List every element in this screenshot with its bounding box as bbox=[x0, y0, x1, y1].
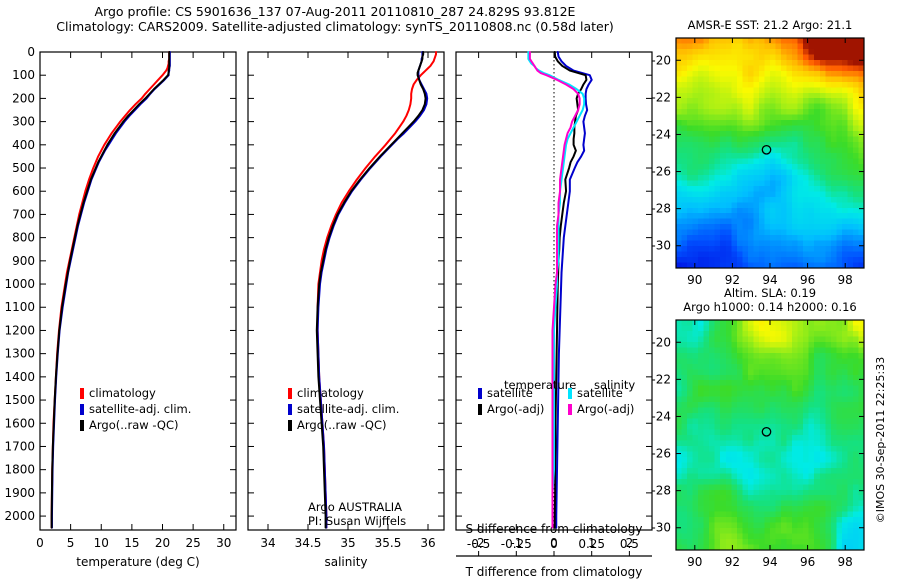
field-cell bbox=[693, 252, 699, 258]
field-cell bbox=[693, 54, 699, 60]
field-cell bbox=[770, 93, 776, 99]
field-cell bbox=[820, 402, 826, 408]
field-cell bbox=[831, 186, 837, 192]
field-cell bbox=[759, 336, 765, 342]
field-cell bbox=[853, 98, 859, 104]
field-cell bbox=[737, 495, 743, 501]
field-cell bbox=[764, 241, 770, 247]
field-cell bbox=[764, 126, 770, 132]
field-cell bbox=[770, 451, 776, 457]
field-cell bbox=[814, 104, 820, 110]
field-cell bbox=[764, 98, 770, 104]
field-cell bbox=[753, 43, 759, 49]
field-cell bbox=[726, 82, 732, 88]
field-cell bbox=[687, 54, 693, 60]
field-cell bbox=[698, 219, 704, 225]
field-cell bbox=[748, 126, 754, 132]
field-cell bbox=[842, 197, 848, 203]
field-cell bbox=[759, 506, 765, 512]
field-cell bbox=[831, 506, 837, 512]
field-cell bbox=[731, 457, 737, 463]
field-cell bbox=[853, 446, 859, 452]
field-cell bbox=[809, 353, 815, 359]
field-cell bbox=[742, 534, 748, 540]
field-cell bbox=[847, 137, 853, 143]
field-cell bbox=[704, 169, 710, 175]
field-cell bbox=[759, 523, 765, 529]
field-cell bbox=[792, 246, 798, 252]
field-cell bbox=[842, 424, 848, 430]
field-cell bbox=[792, 180, 798, 186]
field-cell bbox=[693, 186, 699, 192]
field-cell bbox=[798, 375, 804, 381]
field-cell bbox=[748, 241, 754, 247]
field-cell bbox=[847, 235, 853, 241]
field-cell bbox=[737, 517, 743, 523]
field-cell bbox=[720, 65, 726, 71]
field-cell bbox=[704, 230, 710, 236]
field-cell bbox=[731, 213, 737, 219]
field-cell bbox=[814, 424, 820, 430]
field-cell bbox=[825, 109, 831, 115]
field-cell bbox=[842, 413, 848, 419]
field-cell bbox=[764, 539, 770, 545]
field-cell bbox=[787, 109, 793, 115]
field-cell bbox=[770, 336, 776, 342]
field-cell bbox=[682, 353, 688, 359]
field-cell bbox=[770, 208, 776, 214]
field-cell bbox=[693, 435, 699, 441]
field-cell bbox=[726, 528, 732, 534]
field-cell bbox=[792, 353, 798, 359]
field-cell bbox=[781, 104, 787, 110]
field-cell bbox=[698, 43, 704, 49]
field-cell bbox=[836, 76, 842, 82]
field-cell bbox=[731, 501, 737, 507]
field-cell bbox=[798, 137, 804, 143]
field-cell bbox=[759, 495, 765, 501]
field-cell bbox=[803, 153, 809, 159]
field-cell bbox=[787, 43, 793, 49]
field-cell bbox=[687, 158, 693, 164]
field-cell bbox=[731, 468, 737, 474]
field-cell bbox=[798, 506, 804, 512]
field-cell bbox=[748, 158, 754, 164]
field-cell bbox=[781, 43, 787, 49]
field-cell bbox=[814, 76, 820, 82]
field-cell bbox=[715, 473, 721, 479]
field-cell bbox=[698, 347, 704, 353]
field-cell bbox=[831, 230, 837, 236]
field-cell bbox=[803, 397, 809, 403]
legend-label: Argo(-adj) bbox=[577, 402, 634, 416]
field-cell bbox=[715, 320, 721, 326]
field-cell bbox=[798, 479, 804, 485]
map-y-tick-label: -24 bbox=[651, 127, 671, 141]
field-cell bbox=[792, 71, 798, 77]
field-cell bbox=[693, 386, 699, 392]
field-cell bbox=[803, 419, 809, 425]
field-cell bbox=[820, 93, 826, 99]
field-cell bbox=[737, 440, 743, 446]
field-cell bbox=[715, 342, 721, 348]
field-cell bbox=[731, 479, 737, 485]
field-cell bbox=[726, 517, 732, 523]
field-cell bbox=[715, 364, 721, 370]
field-cell bbox=[792, 191, 798, 197]
field-cell bbox=[836, 446, 842, 452]
field-cell bbox=[803, 49, 809, 55]
field-cell bbox=[764, 197, 770, 203]
field-cell bbox=[709, 419, 715, 425]
field-cell bbox=[831, 523, 837, 529]
field-cell bbox=[809, 137, 815, 143]
field-cell bbox=[748, 137, 754, 143]
field-cell bbox=[720, 115, 726, 121]
field-cell bbox=[676, 501, 682, 507]
field-cell bbox=[731, 380, 737, 386]
field-cell bbox=[781, 462, 787, 468]
field-cell bbox=[803, 175, 809, 181]
field-cell bbox=[764, 331, 770, 337]
field-cell bbox=[853, 369, 859, 375]
field-cell bbox=[764, 347, 770, 353]
field-cell bbox=[676, 336, 682, 342]
field-cell bbox=[776, 512, 782, 518]
field-cell bbox=[709, 391, 715, 397]
field-cell bbox=[814, 137, 820, 143]
field-cell bbox=[737, 137, 743, 143]
field-cell bbox=[803, 235, 809, 241]
secondary-x-tick-label: 0 bbox=[550, 537, 558, 551]
field-cell bbox=[809, 495, 815, 501]
field-cell bbox=[814, 495, 820, 501]
field-cell bbox=[698, 495, 704, 501]
salinity-profile-panel: 3434.53535.536salinityclimatologysatelli… bbox=[248, 52, 444, 569]
field-cell bbox=[842, 257, 848, 263]
field-cell bbox=[704, 148, 710, 154]
field-cell bbox=[704, 347, 710, 353]
field-cell bbox=[814, 197, 820, 203]
field-cell bbox=[820, 419, 826, 425]
field-cell bbox=[836, 331, 842, 337]
field-cell bbox=[776, 501, 782, 507]
field-cell bbox=[753, 153, 759, 159]
field-cell bbox=[742, 164, 748, 170]
field-cell bbox=[715, 424, 721, 430]
field-cell bbox=[753, 369, 759, 375]
field-cell bbox=[836, 320, 842, 326]
field-cell bbox=[787, 235, 793, 241]
field-cell bbox=[776, 364, 782, 370]
field-cell bbox=[720, 331, 726, 337]
field-cell bbox=[726, 241, 732, 247]
field-cell bbox=[720, 468, 726, 474]
field-cell bbox=[847, 430, 853, 436]
field-cell bbox=[820, 76, 826, 82]
field-cell bbox=[753, 54, 759, 60]
field-cell bbox=[803, 71, 809, 77]
figure-title-line2: Climatology: CARS2009. Satellite-adjuste… bbox=[0, 19, 670, 34]
field-cell bbox=[748, 397, 754, 403]
field-cell bbox=[798, 153, 804, 159]
field-cell bbox=[698, 71, 704, 77]
field-cell bbox=[814, 468, 820, 474]
field-cell bbox=[836, 440, 842, 446]
field-cell bbox=[693, 451, 699, 457]
field-cell bbox=[798, 104, 804, 110]
field-cell bbox=[798, 484, 804, 490]
field-cell bbox=[809, 375, 815, 381]
field-cell bbox=[726, 158, 732, 164]
field-cell bbox=[687, 451, 693, 457]
field-cell bbox=[737, 82, 743, 88]
field-cell bbox=[803, 468, 809, 474]
field-cell bbox=[787, 408, 793, 414]
field-cell bbox=[776, 137, 782, 143]
field-cell bbox=[776, 380, 782, 386]
field-cell bbox=[803, 104, 809, 110]
field-cell bbox=[759, 104, 765, 110]
field-cell bbox=[820, 219, 826, 225]
field-cell bbox=[798, 71, 804, 77]
field-cell bbox=[759, 457, 765, 463]
field-cell bbox=[787, 246, 793, 252]
field-cell bbox=[682, 523, 688, 529]
field-cell bbox=[704, 528, 710, 534]
field-cell bbox=[831, 424, 837, 430]
field-cell bbox=[682, 380, 688, 386]
field-cell bbox=[693, 202, 699, 208]
field-cell bbox=[704, 386, 710, 392]
field-cell bbox=[847, 413, 853, 419]
field-cell bbox=[836, 93, 842, 99]
field-cell bbox=[847, 364, 853, 370]
field-cell bbox=[809, 98, 815, 104]
field-cell bbox=[781, 180, 787, 186]
field-cell bbox=[809, 534, 815, 540]
field-cell bbox=[853, 424, 859, 430]
field-cell bbox=[687, 175, 693, 181]
field-cell bbox=[809, 435, 815, 441]
field-cell bbox=[737, 473, 743, 479]
field-cell bbox=[770, 386, 776, 392]
field-cell bbox=[842, 440, 848, 446]
field-cell bbox=[698, 435, 704, 441]
field-cell bbox=[792, 342, 798, 348]
field-cell bbox=[676, 402, 682, 408]
field-cell bbox=[781, 501, 787, 507]
field-cell bbox=[781, 109, 787, 115]
field-cell bbox=[676, 457, 682, 463]
field-cell bbox=[792, 197, 798, 203]
field-cell bbox=[726, 325, 732, 331]
field-cell bbox=[853, 164, 859, 170]
field-cell bbox=[709, 213, 715, 219]
field-cell bbox=[682, 93, 688, 99]
field-cell bbox=[726, 104, 732, 110]
field-cell bbox=[792, 419, 798, 425]
field-cell bbox=[853, 235, 859, 241]
legend-swatch bbox=[288, 404, 292, 415]
x-tick-label: 34 bbox=[260, 536, 275, 550]
field-cell bbox=[798, 202, 804, 208]
field-cell bbox=[687, 202, 693, 208]
depth-tick-label: 1000 bbox=[4, 277, 35, 291]
field-cell bbox=[787, 391, 793, 397]
field-cell bbox=[792, 512, 798, 518]
field-cell bbox=[715, 484, 721, 490]
field-cell bbox=[798, 408, 804, 414]
field-cell bbox=[704, 208, 710, 214]
field-cell bbox=[704, 539, 710, 545]
field-cell bbox=[737, 252, 743, 258]
field-cell bbox=[820, 517, 826, 523]
field-cell bbox=[720, 169, 726, 175]
field-cell bbox=[726, 331, 732, 337]
field-cell bbox=[770, 468, 776, 474]
map-x-tick-label: 94 bbox=[762, 273, 777, 287]
field-cell bbox=[693, 473, 699, 479]
field-cell bbox=[742, 93, 748, 99]
field-cell bbox=[715, 380, 721, 386]
field-cell bbox=[809, 120, 815, 126]
field-cell bbox=[687, 148, 693, 154]
field-cell bbox=[825, 224, 831, 230]
field-cell bbox=[704, 186, 710, 192]
field-cell bbox=[853, 419, 859, 425]
map-y-tick-label: -28 bbox=[651, 202, 671, 216]
field-cell bbox=[836, 501, 842, 507]
field-cell bbox=[853, 342, 859, 348]
field-cell bbox=[737, 451, 743, 457]
field-cell bbox=[814, 331, 820, 337]
field-cell bbox=[720, 148, 726, 154]
field-cell bbox=[698, 120, 704, 126]
field-cell bbox=[836, 430, 842, 436]
field-cell bbox=[825, 435, 831, 441]
field-cell bbox=[787, 175, 793, 181]
field-cell bbox=[742, 109, 748, 115]
field-cell bbox=[687, 479, 693, 485]
field-cell bbox=[726, 230, 732, 236]
field-cell bbox=[842, 224, 848, 230]
field-cell bbox=[764, 342, 770, 348]
field-cell bbox=[831, 104, 837, 110]
field-cell bbox=[731, 539, 737, 545]
field-cell bbox=[820, 523, 826, 529]
field-cell bbox=[820, 115, 826, 121]
field-cell bbox=[825, 246, 831, 252]
field-cell bbox=[698, 430, 704, 436]
field-cell bbox=[809, 169, 815, 175]
field-cell bbox=[820, 534, 826, 540]
field-cell bbox=[847, 380, 853, 386]
field-cell bbox=[847, 38, 853, 44]
field-cell bbox=[715, 98, 721, 104]
field-cell bbox=[731, 197, 737, 203]
field-cell bbox=[776, 76, 782, 82]
field-cell bbox=[820, 213, 826, 219]
field-cell bbox=[770, 419, 776, 425]
field-cell bbox=[820, 180, 826, 186]
field-cell bbox=[770, 87, 776, 93]
field-cell bbox=[676, 82, 682, 88]
field-cell bbox=[698, 402, 704, 408]
field-cell bbox=[853, 336, 859, 342]
field-cell bbox=[803, 120, 809, 126]
field-cell bbox=[825, 358, 831, 364]
field-cell bbox=[709, 517, 715, 523]
field-cell bbox=[737, 60, 743, 66]
field-cell bbox=[792, 213, 798, 219]
field-cell bbox=[814, 451, 820, 457]
field-cell bbox=[682, 462, 688, 468]
field-cell bbox=[776, 252, 782, 258]
field-cell bbox=[764, 104, 770, 110]
field-cell bbox=[704, 358, 710, 364]
field-cell bbox=[682, 76, 688, 82]
field-cell bbox=[776, 241, 782, 247]
field-cell bbox=[698, 479, 704, 485]
field-cell bbox=[742, 115, 748, 121]
field-cell bbox=[842, 435, 848, 441]
legend-label: satellite bbox=[577, 386, 623, 400]
field-cell bbox=[687, 457, 693, 463]
field-cell bbox=[737, 320, 743, 326]
field-cell bbox=[781, 126, 787, 132]
field-cell bbox=[781, 54, 787, 60]
field-cell bbox=[709, 38, 715, 44]
field-cell bbox=[726, 65, 732, 71]
field-cell bbox=[770, 120, 776, 126]
field-cell bbox=[731, 391, 737, 397]
depth-tick-label: 500 bbox=[12, 161, 35, 175]
field-cell bbox=[820, 320, 826, 326]
field-cell bbox=[682, 49, 688, 55]
map-x-tick-label: 90 bbox=[687, 555, 702, 569]
field-cell bbox=[853, 331, 859, 337]
field-cell bbox=[748, 462, 754, 468]
field-cell bbox=[853, 104, 859, 110]
field-cell bbox=[704, 241, 710, 247]
field-cell bbox=[693, 164, 699, 170]
field-cell bbox=[781, 148, 787, 154]
field-cell bbox=[731, 93, 737, 99]
field-cell bbox=[825, 230, 831, 236]
field-cell bbox=[687, 180, 693, 186]
field-cell bbox=[715, 175, 721, 181]
field-cell bbox=[776, 126, 782, 132]
field-cell bbox=[836, 235, 842, 241]
field-cell bbox=[836, 413, 842, 419]
field-cell bbox=[781, 336, 787, 342]
field-cell bbox=[825, 336, 831, 342]
field-cell bbox=[803, 440, 809, 446]
field-cell bbox=[809, 241, 815, 247]
field-cell bbox=[836, 208, 842, 214]
field-cell bbox=[693, 60, 699, 66]
field-cell bbox=[704, 175, 710, 181]
sla-map-field bbox=[676, 320, 865, 551]
field-cell bbox=[847, 402, 853, 408]
field-cell bbox=[831, 528, 837, 534]
field-cell bbox=[753, 230, 759, 236]
field-cell bbox=[737, 358, 743, 364]
field-cell bbox=[809, 186, 815, 192]
field-cell bbox=[792, 224, 798, 230]
field-cell bbox=[853, 219, 859, 225]
